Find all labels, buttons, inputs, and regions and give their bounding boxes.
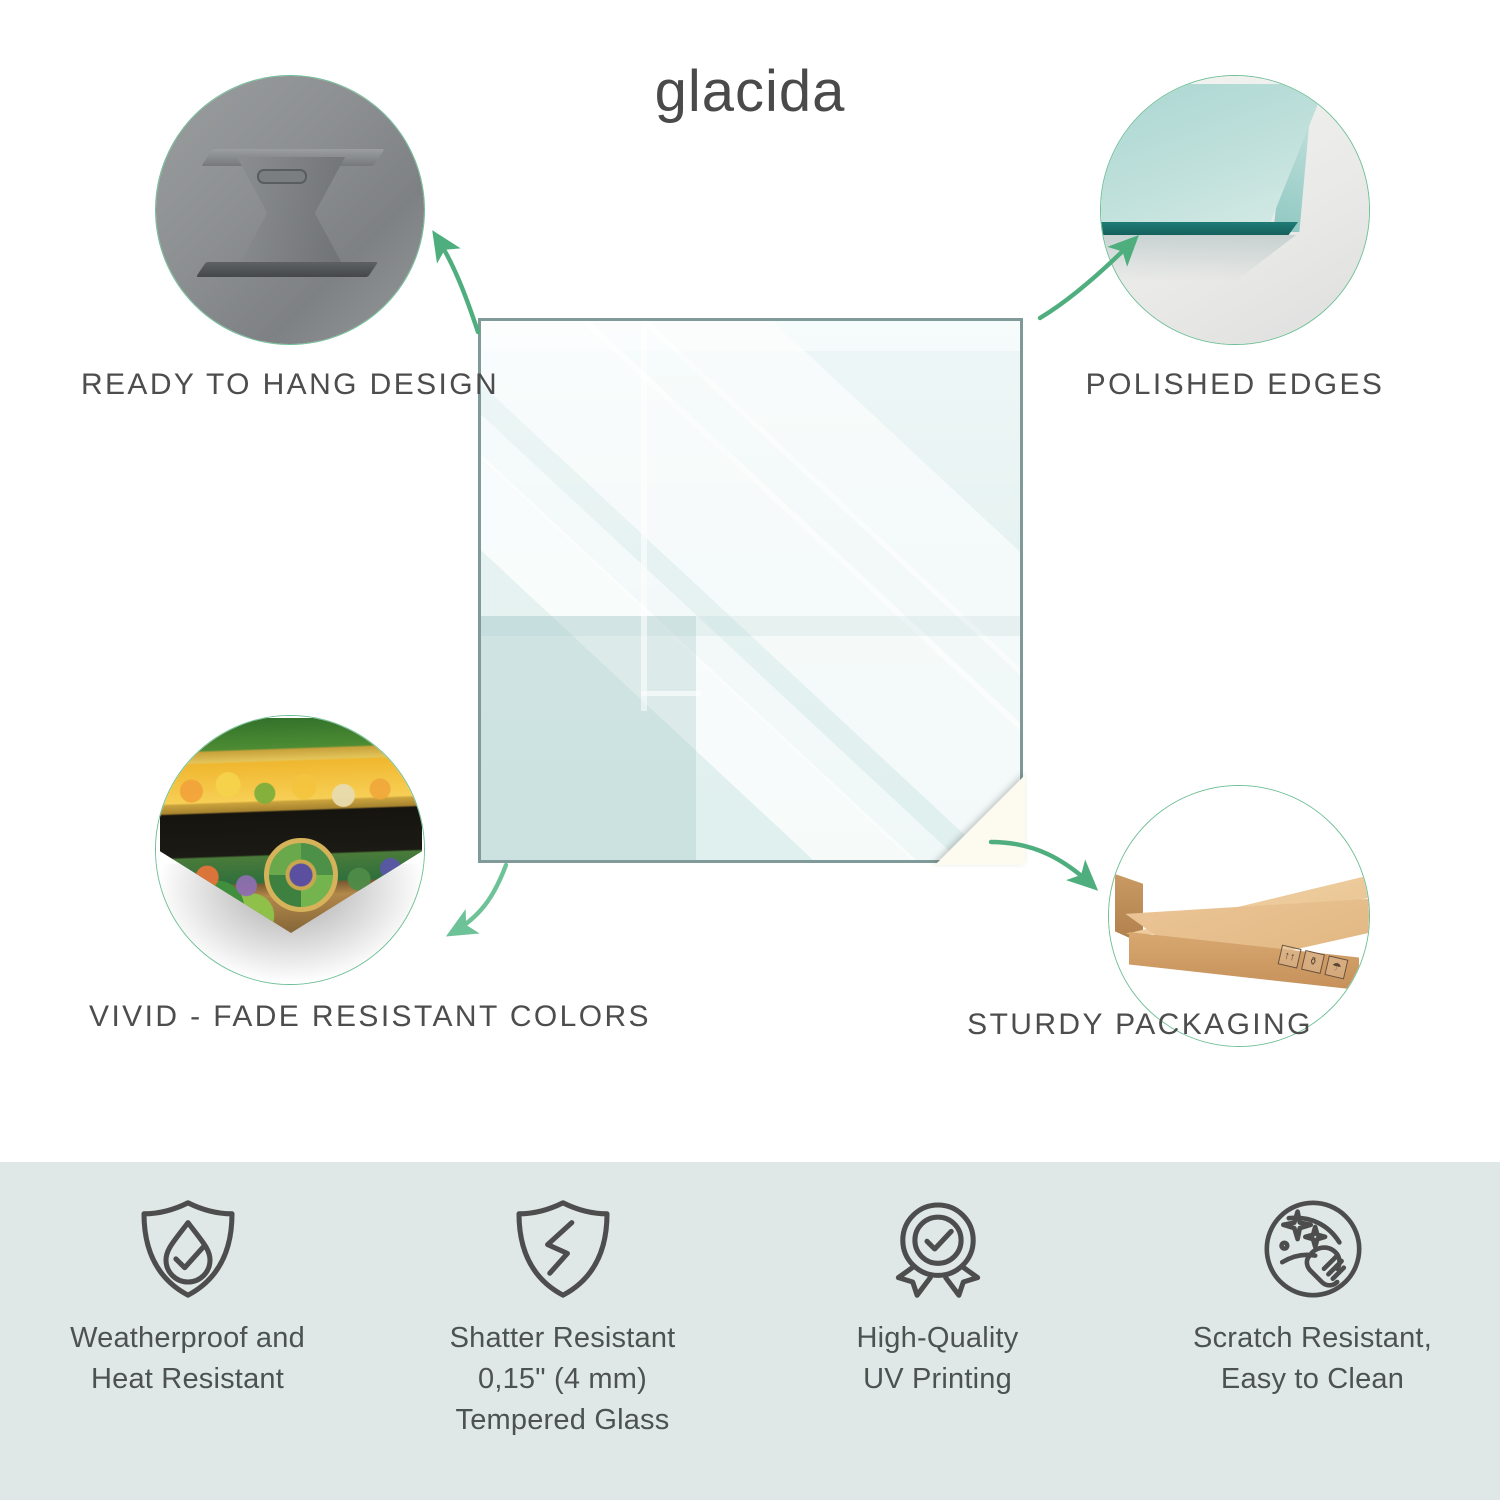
benefit-label: Scratch Resistant, Easy to Clean: [1193, 1318, 1432, 1400]
benefits-bar: Weatherproof and Heat Resistant Shatter …: [0, 1162, 1500, 1500]
fragile-glass-icon: ⚱: [1301, 950, 1325, 974]
glass-top-highlight: [481, 321, 1023, 351]
benefit-label: Weatherproof and Heat Resistant: [70, 1318, 305, 1400]
stained-glass-mosaic-art-photo: [156, 716, 424, 984]
bracket-bottom-plate: [196, 262, 378, 277]
glass-reflection-block: [481, 616, 696, 863]
caption-sturdy-packaging: STURDY PACKAGING: [930, 1005, 1350, 1045]
glass-reflection-line: [481, 616, 1023, 636]
glass-reflection-notch: [641, 691, 701, 696]
benefit-weatherproof: Weatherproof and Heat Resistant: [0, 1162, 375, 1500]
bracket-shape: [215, 135, 365, 285]
benefit-uv-printing: High-Quality UV Printing: [750, 1162, 1125, 1500]
curved-arrow-up-right-icon: [1030, 200, 1170, 340]
benefit-scratch-resistant: Scratch Resistant, Easy to Clean: [1125, 1162, 1500, 1500]
mosaic-medallion: [264, 838, 338, 912]
glass-reflection-edge: [641, 321, 647, 711]
shield-water-drop-check-icon: [133, 1194, 243, 1304]
curved-arrow-up-left-icon: [420, 200, 560, 340]
caption-vivid-colors: VIVID - FADE RESISTANT COLORS: [80, 997, 660, 1037]
curved-arrow-down-right-icon: [985, 820, 1135, 940]
shield-lightning-bolt-icon: [508, 1194, 618, 1304]
curved-arrow-down-left-icon: [430, 855, 570, 985]
caption-polished-edges: POLISHED EDGES: [1030, 365, 1440, 405]
benefit-label: Shatter Resistant 0,15" (4 mm) Tempered …: [450, 1318, 676, 1442]
product-glass-panel: [478, 318, 1023, 863]
bracket-slot: [257, 169, 307, 184]
award-badge-check-icon: [883, 1194, 993, 1304]
benefit-label: High-Quality UV Printing: [857, 1318, 1019, 1400]
caption-ready-to-hang: READY TO HANG DESIGN: [60, 365, 520, 405]
feature-image-ready-to-hang: [155, 75, 425, 345]
benefit-shatter-resistant: Shatter Resistant 0,15" (4 mm) Tempered …: [375, 1162, 750, 1500]
sparkle-hand-wipe-clean-icon: [1258, 1194, 1368, 1304]
feature-image-vivid-colors: [155, 715, 425, 985]
this-side-up-icon: ↑↑: [1278, 945, 1302, 969]
metal-hanging-bracket-photo: [156, 76, 424, 344]
infographic-page: glacida READY TO HANG DESI: [0, 0, 1500, 1500]
